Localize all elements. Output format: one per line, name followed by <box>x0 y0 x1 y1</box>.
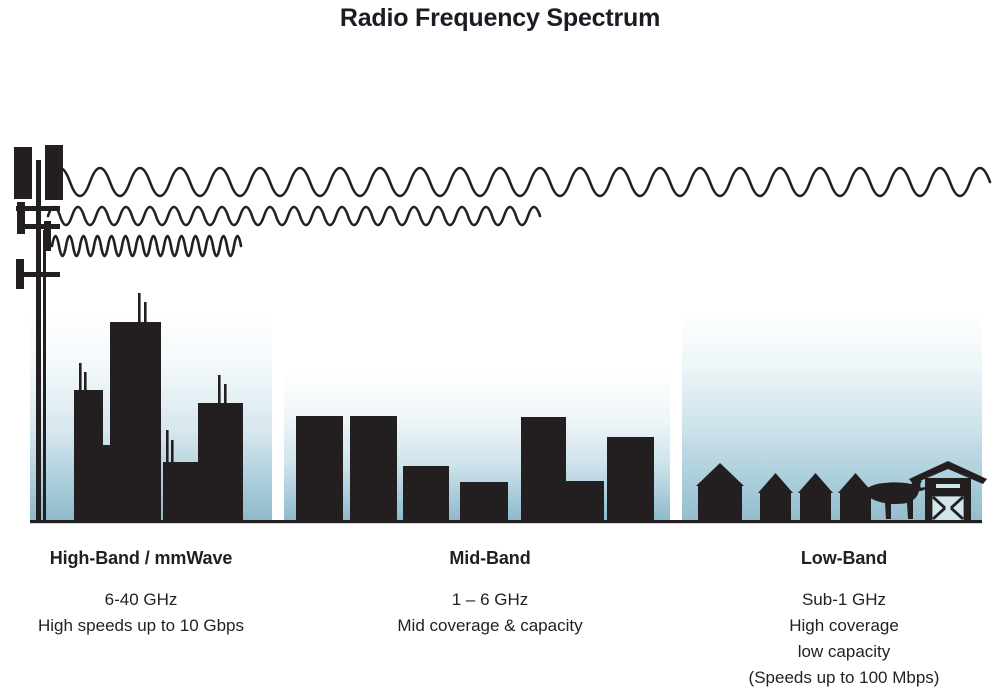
band-detail-line-low-1: low capacity <box>688 639 1000 665</box>
ground-line <box>30 520 982 523</box>
band-detail-line-low-2: (Speeds up to 100 Mbps) <box>688 665 1000 691</box>
infographic-root: Radio Frequency Spectrum <box>0 0 1000 700</box>
spectrum-figure <box>0 0 1000 540</box>
radio-wave-high-band <box>52 236 241 256</box>
band-caption-mid: Mid-Band 1 – 6 GHz Mid coverage & capaci… <box>345 548 635 639</box>
band-frequency-high: 6-40 GHz <box>0 587 282 613</box>
band-caption-low: Low-Band Sub-1 GHz High coverage low cap… <box>688 548 1000 691</box>
band-detail-high: 6-40 GHz High speeds up to 10 Gbps <box>0 587 282 639</box>
band-detail-line-mid-0: Mid coverage & capacity <box>345 613 635 639</box>
antenna-panel-5 <box>16 259 24 289</box>
radio-wave-low-band <box>50 168 990 196</box>
band-title-high: High-Band / mmWave <box>0 548 282 569</box>
radio-wave-mid-band <box>48 207 540 225</box>
band-detail-low: Sub-1 GHz High coverage low capacity (Sp… <box>688 587 1000 691</box>
band-frequency-mid: 1 – 6 GHz <box>345 587 635 613</box>
antenna-panel-3 <box>17 202 25 234</box>
band-title-mid: Mid-Band <box>345 548 635 569</box>
band-detail-line-high-0: High speeds up to 10 Gbps <box>0 613 282 639</box>
band-title-low: Low-Band <box>688 548 1000 569</box>
band-detail-line-low-0: High coverage <box>688 613 1000 639</box>
antenna-panel-1 <box>14 147 32 199</box>
antenna-panel-4 <box>44 221 51 251</box>
band-frequency-low: Sub-1 GHz <box>688 587 1000 613</box>
band-detail-mid: 1 – 6 GHz Mid coverage & capacity <box>345 587 635 639</box>
band-caption-high: High-Band / mmWave 6-40 GHz High speeds … <box>0 548 282 639</box>
antenna-panel-2 <box>45 145 63 200</box>
